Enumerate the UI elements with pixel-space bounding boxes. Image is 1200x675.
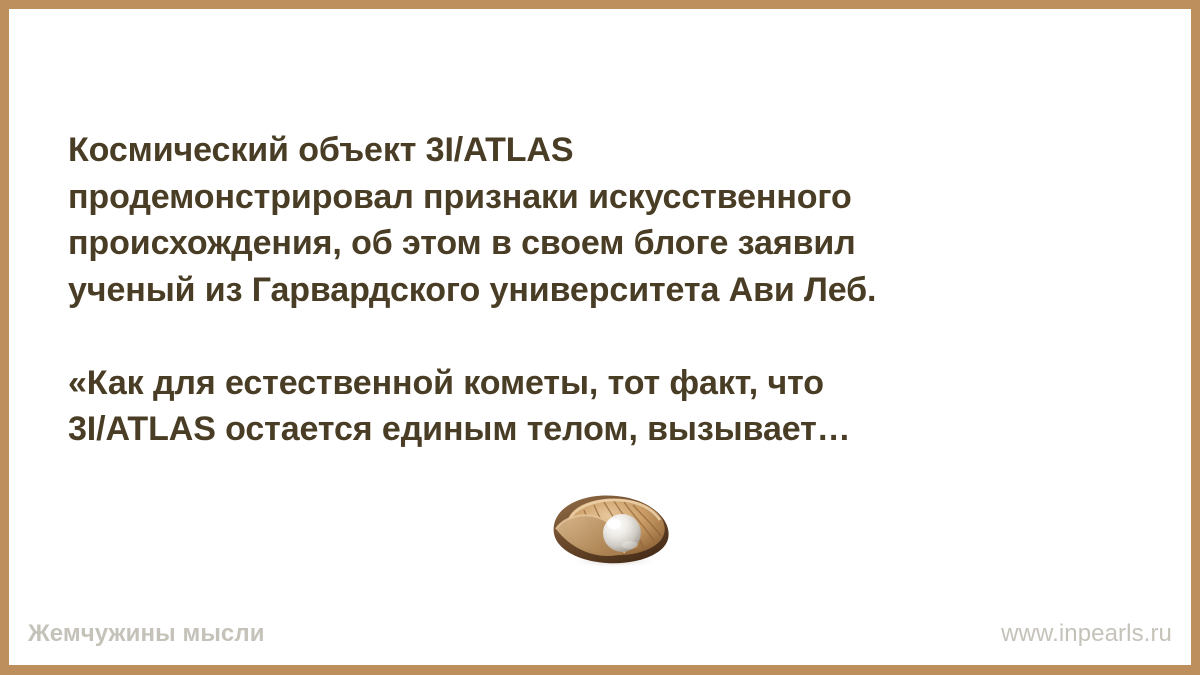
footer-site-url[interactable]: www.inpearls.ru	[1001, 620, 1172, 648]
oyster-shell-with-pearl-icon	[544, 489, 676, 569]
quote-card: Космический объект 3I/ATLAS продемонстри…	[0, 0, 1200, 675]
quote-paragraph-1: Космический объект 3I/ATLAS продемонстри…	[68, 127, 1132, 313]
footer: Жемчужины мысли www.inpearls.ru	[9, 617, 1191, 651]
footer-brand: Жемчужины мысли	[28, 620, 265, 648]
quote-text-block: Космический объект 3I/ATLAS продемонстри…	[68, 127, 1132, 453]
quote-paragraph-2: «Как для естественной кометы, тот факт, …	[68, 360, 1132, 453]
